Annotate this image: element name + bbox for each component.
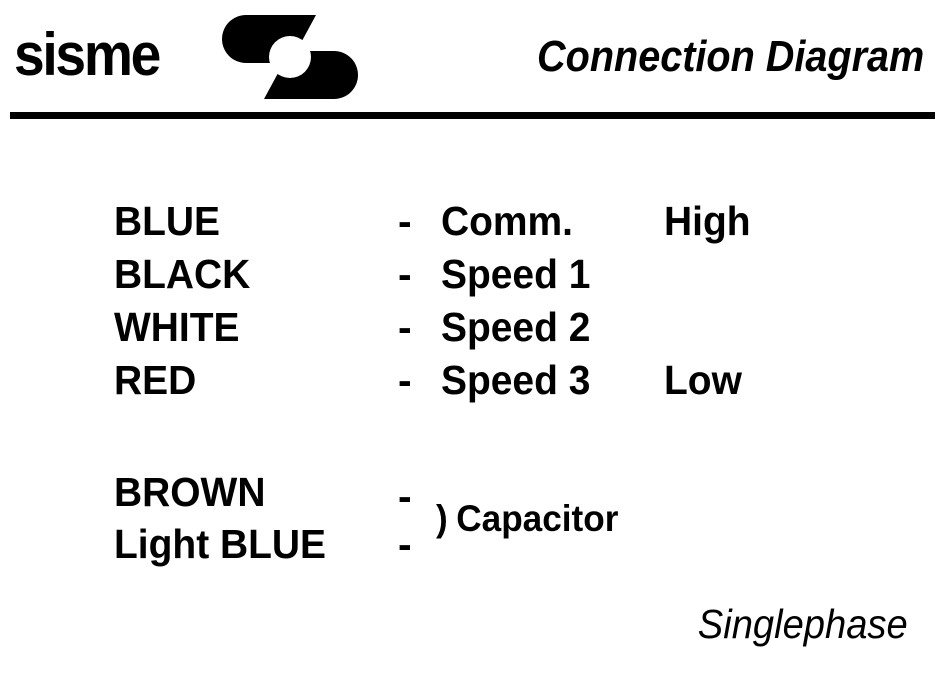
table-row: BLACK - Speed 1 — [0, 252, 945, 305]
row-separator: - — [398, 522, 412, 567]
table-row: BLUE - Comm. High — [0, 199, 945, 252]
capacitor-label-text: Capacitor — [456, 498, 618, 539]
wire-note-label: High — [664, 199, 751, 244]
brace-icon: ) — [436, 498, 448, 539]
header-divider — [10, 112, 935, 119]
brand-logo: sisme — [14, 6, 359, 106]
page-title: Connection Diagram — [537, 33, 924, 81]
wiring-table: BLUE - Comm. High BLACK - Speed 1 WHITE … — [0, 199, 945, 411]
wire-function-label: Speed 2 — [441, 305, 590, 350]
capacitor-group: BROWN - Light BLUE - )Capacitor — [0, 470, 945, 565]
row-separator: - — [398, 474, 412, 519]
wire-function-label: Speed 1 — [441, 252, 590, 297]
table-row: WHITE - Speed 2 — [0, 305, 945, 358]
brand-wordmark: sisme — [14, 25, 159, 85]
wire-color-label: BLUE — [114, 199, 220, 244]
wire-function-label: Comm. — [441, 199, 573, 244]
wire-note-label: Low — [664, 358, 742, 403]
wire-color-label: BROWN — [114, 470, 265, 515]
row-separator: - — [398, 358, 412, 403]
wire-color-label: RED — [114, 358, 196, 403]
connection-diagram-page: sisme Connection Diagram BLUE - Comm. — [0, 0, 945, 673]
wire-color-label: BLACK — [114, 252, 250, 297]
page-header: sisme Connection Diagram — [0, 0, 945, 118]
sisme-s-mark-icon — [220, 7, 360, 107]
capacitor-label: )Capacitor — [436, 498, 618, 539]
wire-color-label: WHITE — [114, 305, 239, 350]
row-separator: - — [398, 199, 412, 244]
wire-function-label: Speed 3 — [441, 358, 590, 403]
phase-note: Singlephase — [698, 602, 908, 647]
table-row: RED - Speed 3 Low — [0, 358, 945, 411]
row-separator: - — [398, 252, 412, 297]
wire-color-label: Light BLUE — [114, 522, 326, 567]
row-separator: - — [398, 305, 412, 350]
